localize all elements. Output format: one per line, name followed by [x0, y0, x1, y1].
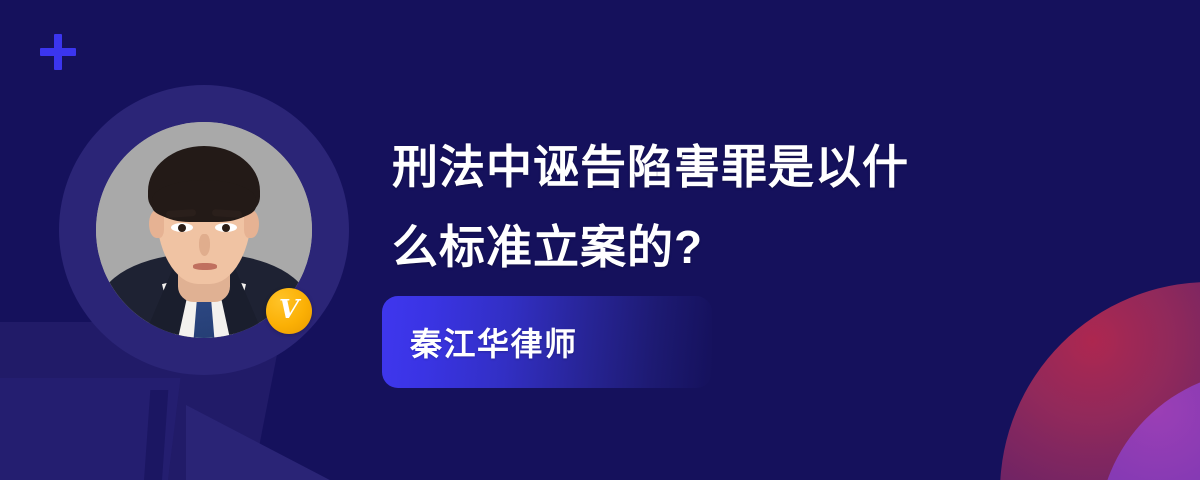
portrait-eye-left [171, 223, 193, 232]
background-gradient-circle-inner [1098, 370, 1200, 480]
background-facet-shape-c [186, 405, 416, 480]
plus-icon-vertical-bar [54, 34, 62, 70]
verified-badge-icon: V [266, 288, 312, 334]
author-name-label: 秦江华律师 [410, 319, 578, 365]
background-facet-shape-b [0, 378, 180, 480]
author-name-badge[interactable]: 秦江华律师 [382, 296, 712, 388]
page-title: 刑法中诬告陷害罪是以什 么标准立案的? [392, 127, 1092, 287]
lawyer-question-banner: V 刑法中诬告陷害罪是以什 么标准立案的? 秦江华律师 [0, 0, 1200, 480]
verified-badge-glyph: V [279, 297, 299, 323]
background-gradient-circle-outer [1000, 282, 1200, 480]
background-facet-shape-d [144, 390, 169, 480]
headline-block: 刑法中诬告陷害罪是以什 么标准立案的? [392, 127, 1092, 287]
plus-icon [40, 34, 76, 70]
portrait-eye-right [215, 223, 237, 232]
avatar[interactable]: V [59, 85, 349, 375]
portrait-mouth [193, 263, 217, 270]
portrait-nose [199, 234, 210, 256]
